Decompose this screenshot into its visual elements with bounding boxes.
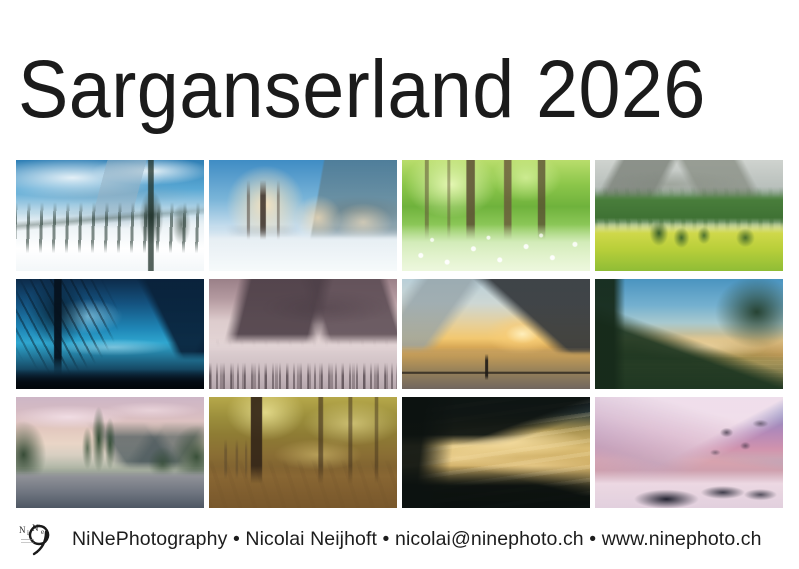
svg-text:e: e	[41, 528, 44, 536]
credit-line: NiNePhotography • Nicolai Neijhoft • nic…	[72, 528, 762, 550]
photo-6-village-layer	[209, 279, 397, 390]
photo-8-sunburst-layer	[595, 279, 783, 390]
footer: N i N e NiNePhotography • Nicolai Neijho…	[16, 516, 783, 562]
photo-tile-2[interactable]	[209, 160, 397, 271]
photo-tile-12[interactable]	[595, 397, 783, 508]
photo-10-trunks-layer	[209, 397, 397, 508]
photo-tile-11[interactable]	[402, 397, 590, 508]
title-area: Sarganserland 2026	[18, 44, 783, 140]
svg-text:i: i	[27, 529, 29, 537]
photo-grid	[16, 160, 783, 508]
photo-tile-1[interactable]	[16, 160, 204, 271]
svg-text:N: N	[19, 525, 26, 535]
photo-tile-4[interactable]	[595, 160, 783, 271]
photo-tile-3[interactable]	[402, 160, 590, 271]
photo-tile-8[interactable]	[595, 279, 783, 390]
photo-tile-5[interactable]	[16, 279, 204, 390]
photo-5-shore-layer	[16, 279, 204, 390]
photo-tile-10[interactable]	[209, 397, 397, 508]
photo-3-flowers-layer	[402, 160, 590, 271]
photo-tile-6[interactable]	[209, 279, 397, 390]
calendar-cover: Sarganserland 2026	[0, 0, 799, 569]
nine-photography-logo-icon: N i N e	[16, 517, 62, 561]
photo-7-paddleboarder-layer	[402, 279, 590, 390]
photo-tile-7[interactable]	[402, 279, 590, 390]
photo-2-road-layer	[209, 160, 397, 271]
photo-1-foreground-tree-layer	[16, 160, 204, 271]
photo-4-trees-layer	[595, 160, 783, 271]
photo-11-left-slope-layer	[402, 397, 590, 508]
page-title: Sarganserland 2026	[18, 44, 722, 136]
photo-12-trees-layer	[595, 397, 783, 508]
photo-tile-9[interactable]	[16, 397, 204, 508]
photo-9-river-layer	[16, 397, 204, 508]
